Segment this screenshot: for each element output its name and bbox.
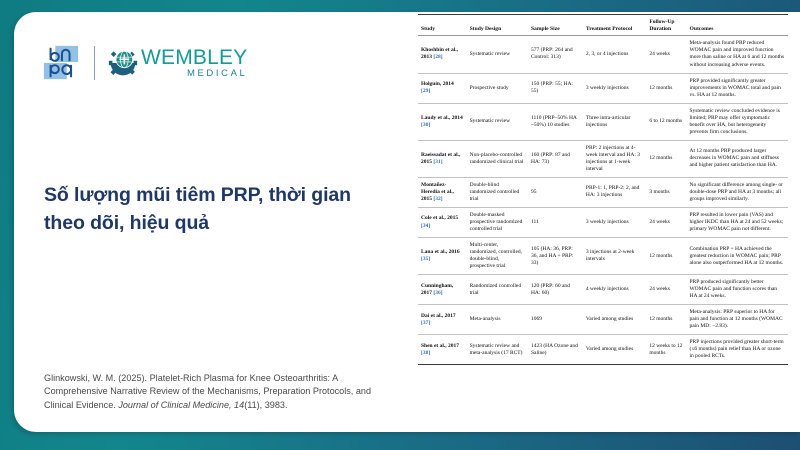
table-row: Dai et al., 2017 [37]Meta-analysis1069Va… [418, 305, 788, 335]
study-name: Holguin, 2014 [421, 81, 454, 87]
cell-study-design: Systematic review [467, 103, 528, 140]
table-row: Lana et al., 2016 [35]Multi-center, rand… [418, 238, 788, 275]
table-row: Shen et al., 2017 [38]Systematic review … [418, 335, 788, 365]
cell-study: Shen et al., 2017 [38] [418, 335, 467, 365]
study-reference-link[interactable]: [28] [433, 54, 442, 60]
wembley-subtitle: MEDICAL [141, 69, 247, 79]
logo-divider [94, 46, 95, 80]
left-panel: WEMBLEY MEDICAL Số lượng mũi tiêm PRP, t… [14, 12, 414, 432]
table-row: Cole et al., 2015 [34]Double-masked pros… [418, 207, 788, 237]
cell-study-design: Randomized controlled trial [467, 275, 528, 305]
study-name: Lana et al., 2016 [421, 249, 460, 255]
cell-study-design: Non-placebo-controlled randomized clinic… [467, 140, 528, 177]
cell-followup-duration: 24 weeks [646, 275, 686, 305]
cell-outcomes: At 12 months PRP produced larger decreas… [686, 140, 788, 177]
table-header-row: Study Study Design Sample Size Treatment… [418, 15, 788, 36]
cell-sample-size: 120 (PRP: 60 and HA: 60) [528, 275, 583, 305]
cell-outcomes: Systematic review concluded evidence is … [686, 103, 788, 140]
cell-followup-duration: 12 weeks to 12 months [646, 335, 686, 365]
cell-treatment-protocol: PRP-1: 1, PRP-2: 2, and HA: 3 injections [583, 177, 646, 207]
table-row: Laudy et al., 2014 [30]Systematic review… [418, 103, 788, 140]
cell-study: Holguin, 2014 [29] [418, 73, 467, 103]
cell-study: Cole et al., 2015 [34] [418, 207, 467, 237]
cell-study: Lana et al., 2016 [35] [418, 238, 467, 275]
citation-journal: Journal of Clinical Medicine, 14 [118, 400, 244, 410]
table-row: Montañez-Heredia et al., 2015 [32]Double… [418, 177, 788, 207]
bhga-logo-icon [42, 44, 80, 82]
cell-sample-size: 1423 (HA Ozone and Saline) [528, 335, 583, 365]
logo-lockup: WEMBLEY MEDICAL [42, 40, 247, 86]
study-reference-link[interactable]: [36] [433, 290, 442, 296]
study-reference-link[interactable]: [38] [421, 350, 430, 356]
table-row: Cunningham, 2017 [36]Randomized controll… [418, 275, 788, 305]
study-reference-link[interactable]: [29] [421, 88, 430, 94]
cell-followup-duration: 24 weeks [646, 36, 686, 73]
cell-sample-size: 95 [528, 177, 583, 207]
evidence-table: Study Study Design Sample Size Treatment… [418, 14, 788, 365]
cell-followup-duration: 12 months [646, 140, 686, 177]
cell-sample-size: 160 (PRP: 87 and HA: 73) [528, 140, 583, 177]
table-row: Raeissadat et al., 2015 [31]Non-placebo-… [418, 140, 788, 177]
cell-outcomes: Meta-analysis found PRP reduced WOMAC pa… [686, 36, 788, 73]
study-reference-link[interactable]: [35] [421, 256, 430, 262]
cell-treatment-protocol: PRP: 2 injections at 4-week interval and… [583, 140, 646, 177]
cell-treatment-protocol: 3 injections at 2-week intervals [583, 238, 646, 275]
citation-part-2: (11), 3983. [244, 400, 287, 410]
citation-text: Glinkowski, W. M. (2025). Platelet-Rich … [44, 372, 380, 412]
cell-study: Raeissadat et al., 2015 [31] [418, 140, 467, 177]
cell-outcomes: PRP provided significantly greater impro… [686, 73, 788, 103]
cell-outcomes: No significant difference among single- … [686, 177, 788, 207]
cell-outcomes: PRP resulted in lower pain (VAS) and hig… [686, 207, 788, 237]
wembley-globe-gear-icon [108, 48, 138, 78]
cell-treatment-protocol: 2, 3, or 4 injections [583, 36, 646, 73]
cell-study-design: Multi-center, randomized, controlled, do… [467, 238, 528, 275]
wembley-wordmark: WEMBLEY MEDICAL [141, 47, 247, 79]
cell-study: Montañez-Heredia et al., 2015 [32] [418, 177, 467, 207]
page-title: Số lượng mũi tiêm PRP, thời gian theo dõ… [44, 182, 384, 237]
cell-study-design: Meta-analysis [467, 305, 528, 335]
cell-followup-duration: 12 months [646, 73, 686, 103]
column-header-followup-duration: Follow-Up Duration [646, 15, 686, 36]
cell-study-design: Double-masked prospective randomized con… [467, 207, 528, 237]
cell-study-design: Prospective study [467, 73, 528, 103]
column-header-study: Study [418, 15, 467, 36]
cell-followup-duration: 3 months [646, 177, 686, 207]
study-reference-link[interactable]: [31] [433, 159, 442, 165]
cell-study: Laudy et al., 2014 [30] [418, 103, 467, 140]
study-reference-link[interactable]: [30] [421, 122, 430, 128]
cell-study-design: Systematic review [467, 36, 528, 73]
column-header-sample-size: Sample Size [528, 15, 583, 36]
study-reference-link[interactable]: [32] [433, 196, 442, 202]
cell-followup-duration: 24 weeks [646, 207, 686, 237]
cell-followup-duration: 12 months [646, 305, 686, 335]
cell-study: Cunningham, 2017 [36] [418, 275, 467, 305]
cell-treatment-protocol: Varied among studies [583, 305, 646, 335]
cell-sample-size: 1110 (PRP~50% HA ~50%) 10 studies [528, 103, 583, 140]
table-row: Holguin, 2014 [29]Prospective study150 (… [418, 73, 788, 103]
cell-study: Dai et al., 2017 [37] [418, 305, 467, 335]
study-name: Cole et al., 2015 [421, 215, 458, 221]
study-reference-link[interactable]: [34] [421, 223, 430, 229]
cell-sample-size: 577 (PRP: 264 and Control: 313) [528, 36, 583, 73]
cell-study: Khoshbin et al., 2013 [28] [418, 36, 467, 73]
cell-outcomes: PRP produced significantly better WOMAC … [686, 275, 788, 305]
cell-outcomes: PRP injections provided greater short-te… [686, 335, 788, 365]
cell-treatment-protocol: 3 weekly injections [583, 73, 646, 103]
cell-treatment-protocol: Varied among studies [583, 335, 646, 365]
cell-treatment-protocol: 4 weekly injections [583, 275, 646, 305]
cell-treatment-protocol: Three intra-articular injections [583, 103, 646, 140]
cell-followup-duration: 12 months [646, 238, 686, 275]
cell-study-design: Double-blind randomized controlled trial [467, 177, 528, 207]
table-body: Khoshbin et al., 2013 [28]Systematic rev… [418, 36, 788, 365]
table-row: Khoshbin et al., 2013 [28]Systematic rev… [418, 36, 788, 73]
slide-canvas: WEMBLEY MEDICAL Số lượng mũi tiêm PRP, t… [0, 0, 800, 450]
column-header-study-design: Study Design [467, 15, 528, 36]
cell-sample-size: 111 [528, 207, 583, 237]
cell-study-design: Systematic review and meta-analysis (17 … [467, 335, 528, 365]
study-name: Dai et al., 2017 [421, 313, 456, 319]
cell-sample-size: 105 (HA: 36, PRP: 36, and HA + PRP: 33) [528, 238, 583, 275]
cell-outcomes: Combination PRP + HA achieved the greate… [686, 238, 788, 275]
cell-treatment-protocol: 3 weekly injections [583, 207, 646, 237]
column-header-treatment-protocol: Treatment Protocol [583, 15, 646, 36]
column-header-outcomes: Outcomes [686, 15, 788, 36]
cell-followup-duration: 6 to 12 months [646, 103, 686, 140]
evidence-table-container: Study Study Design Sample Size Treatment… [418, 14, 788, 430]
wembley-logo: WEMBLEY MEDICAL [108, 47, 247, 79]
cell-sample-size: 1069 [528, 305, 583, 335]
wembley-name: WEMBLEY [141, 47, 247, 68]
study-name: Shen et al., 2017 [421, 343, 459, 349]
study-name: Laudy et al., 2014 [421, 115, 463, 121]
study-reference-link[interactable]: [37] [421, 320, 430, 326]
cell-outcomes: Meta-analysis: PRP superior to HA for pa… [686, 305, 788, 335]
cell-sample-size: 150 (PRP: 55; HA: 55) [528, 73, 583, 103]
